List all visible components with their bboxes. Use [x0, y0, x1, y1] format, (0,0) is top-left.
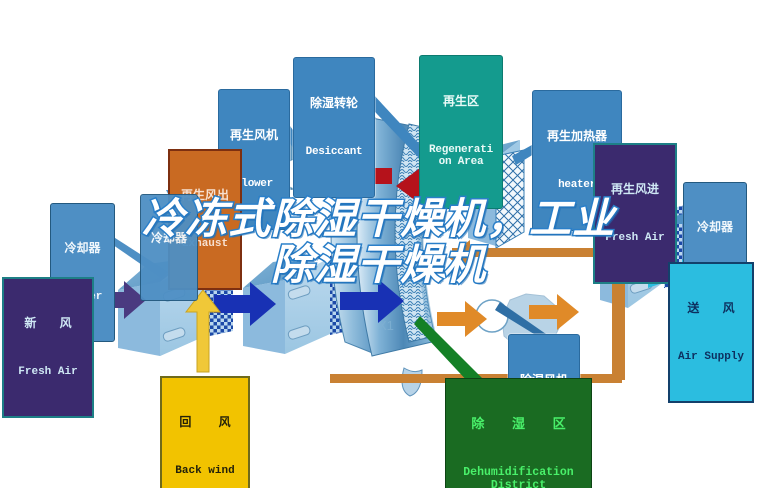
- label-fresh-air-left-en: Fresh Air: [6, 366, 90, 378]
- label-back-wind-cn: 回 风: [164, 416, 246, 429]
- label-cooler-right-cn: 冷却器: [686, 221, 744, 234]
- label-back-wind-en: Back wind: [164, 465, 246, 477]
- label-fresh-air-inlet[interactable]: 再生风进 Fresh Air: [593, 143, 677, 284]
- label-back-wind[interactable]: 回 风 Back wind: [160, 376, 250, 488]
- label-regeneration-blower-cn: 再生风机: [221, 129, 287, 142]
- label-fresh-air-left[interactable]: 新 风 Fresh Air: [2, 277, 94, 418]
- label-air-supply-en: Air Supply: [672, 351, 750, 363]
- diagram-canvas: X1: [0, 0, 757, 488]
- label-air-supply[interactable]: 送 风 Air Supply: [668, 262, 754, 403]
- label-desiccant-cn: 除湿转轮: [296, 97, 372, 110]
- label-dehumidification-district[interactable]: 除 湿 区 Dehumidification District: [445, 378, 592, 488]
- label-regeneration-area[interactable]: 再生区 Regenerati on Area: [419, 55, 503, 209]
- label-dehumidification-district-cn: 除 湿 区: [448, 417, 589, 432]
- label-desiccant[interactable]: 除湿转轮 Desiccant: [293, 57, 375, 198]
- label-cooler-mid[interactable]: 冷却器 Cooler: [140, 194, 198, 301]
- label-air-supply-cn: 送 风: [672, 302, 750, 315]
- label-dehumidification-district-en: Dehumidification District: [448, 467, 589, 488]
- label-regeneration-area-en: Regenerati on Area: [422, 144, 500, 169]
- label-fresh-air-inlet-en: Fresh Air: [597, 232, 673, 244]
- label-cooler-left-cn: 冷却器: [53, 242, 112, 255]
- label-regeneration-area-cn: 再生区: [422, 95, 500, 108]
- label-cooler-mid-cn: 冷却器: [143, 232, 195, 245]
- label-fresh-air-left-cn: 新 风: [6, 317, 90, 330]
- label-desiccant-en: Desiccant: [296, 146, 372, 158]
- label-regeneration-heater-cn: 再生加热器: [535, 130, 619, 143]
- label-fresh-air-inlet-cn: 再生风进: [597, 183, 673, 196]
